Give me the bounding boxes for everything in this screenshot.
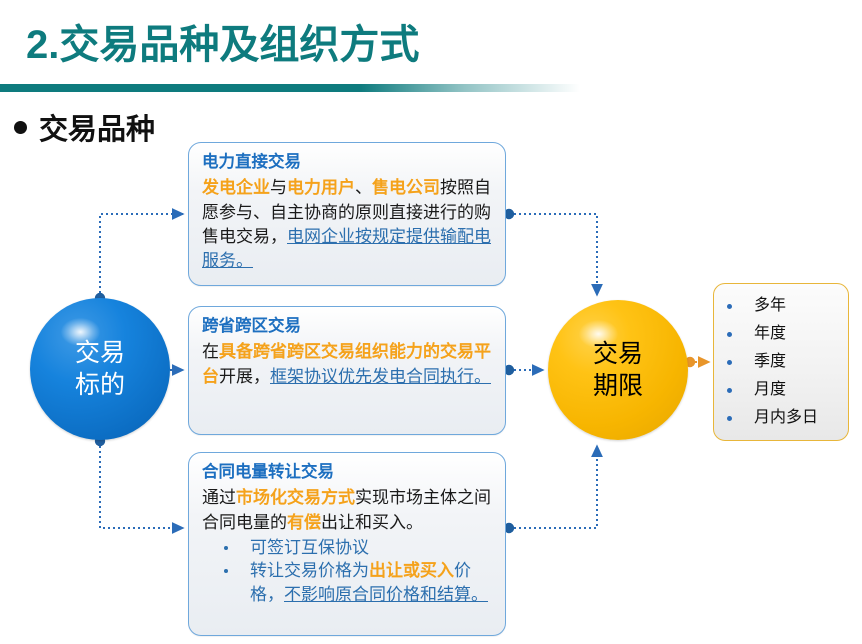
card-contract-transfer-trade-body: 通过市场化交易方式实现市场主体之间合同电量的有偿出让和买入。 [202, 486, 494, 534]
term-option-item[interactable]: 季度 [722, 348, 842, 376]
text-run: 在 [202, 342, 219, 361]
text-run: 开展， [219, 367, 270, 386]
text-run: 框架协议优先发电合同执行。 [270, 367, 491, 386]
text-run: 出让或买入 [369, 561, 454, 580]
list-item: 转让交易价格为出让或买入价格，不影响原合同价格和结算。 [220, 559, 494, 606]
card-direct-trade-body: 发电企业与电力用户、售电公司按照自愿参与、自主协商的原则直接进行的购售电交易，电… [202, 176, 494, 273]
bullet-dot-icon [14, 121, 27, 134]
node-subject-line2: 标的 [75, 369, 125, 401]
text-run: 、 [355, 178, 372, 197]
node-trade-subject[interactable]: 交易 标的 [30, 298, 170, 440]
text-run: 可签订互保协议 [250, 538, 369, 557]
list-item: 可签订互保协议 [220, 536, 494, 559]
text-run: 售电公司 [372, 178, 440, 197]
text-run: 与 [270, 178, 287, 197]
node-term-line2: 期限 [593, 370, 643, 402]
title-divider [0, 84, 580, 92]
card-contract-transfer-bullets: 可签订互保协议转让交易价格为出让或买入价格，不影响原合同价格和结算。 [202, 536, 494, 606]
card-direct-trade-title: 电力直接交易 [202, 152, 494, 173]
card-cross-region-trade[interactable]: 跨省跨区交易 在具备跨省跨区交易组织能力的交易平台开展，框架协议优先发电合同执行… [188, 306, 506, 435]
term-option-item[interactable]: 多年 [722, 292, 842, 320]
node-term-line1: 交易 [593, 338, 643, 370]
term-option-item[interactable]: 月内多日 [722, 404, 842, 432]
subheading-label: 交易品种 [39, 106, 155, 148]
term-option-item[interactable]: 年度 [722, 320, 842, 348]
text-run: 发电企业 [202, 178, 270, 197]
text-run: 通过 [202, 488, 236, 507]
card-contract-transfer-trade-title: 合同电量转让交易 [202, 462, 494, 483]
card-direct-trade[interactable]: 电力直接交易 发电企业与电力用户、售电公司按照自愿参与、自主协商的原则直接进行的… [188, 142, 506, 286]
page-title: 2.交易品种及组织方式 [26, 22, 419, 68]
card-cross-region-trade-title: 跨省跨区交易 [202, 316, 494, 337]
node-trade-term[interactable]: 交易 期限 [548, 300, 688, 440]
text-run: 市场化交易方式 [236, 488, 355, 507]
term-option-list: 多年年度季度月度月内多日 [722, 292, 842, 432]
subheading: 交易品种 [14, 106, 155, 148]
text-run: 出让和买入。 [321, 513, 423, 532]
card-contract-transfer-trade[interactable]: 合同电量转让交易 通过市场化交易方式实现市场主体之间合同电量的有偿出让和买入。 … [188, 452, 506, 636]
text-run: 转让交易价格为 [250, 561, 369, 580]
text-run: 有偿 [287, 513, 321, 532]
text-run: 不影响原合同价格和结算。 [284, 585, 488, 604]
slide-canvas: 2.交易品种及组织方式 交易品种 [0, 0, 862, 644]
text-run: 电力用户 [287, 178, 355, 197]
node-subject-line1: 交易 [75, 337, 125, 369]
panel-trade-term-options[interactable]: 多年年度季度月度月内多日 [713, 283, 849, 441]
term-option-item[interactable]: 月度 [722, 376, 842, 404]
card-cross-region-trade-body: 在具备跨省跨区交易组织能力的交易平台开展，框架协议优先发电合同执行。 [202, 340, 494, 388]
